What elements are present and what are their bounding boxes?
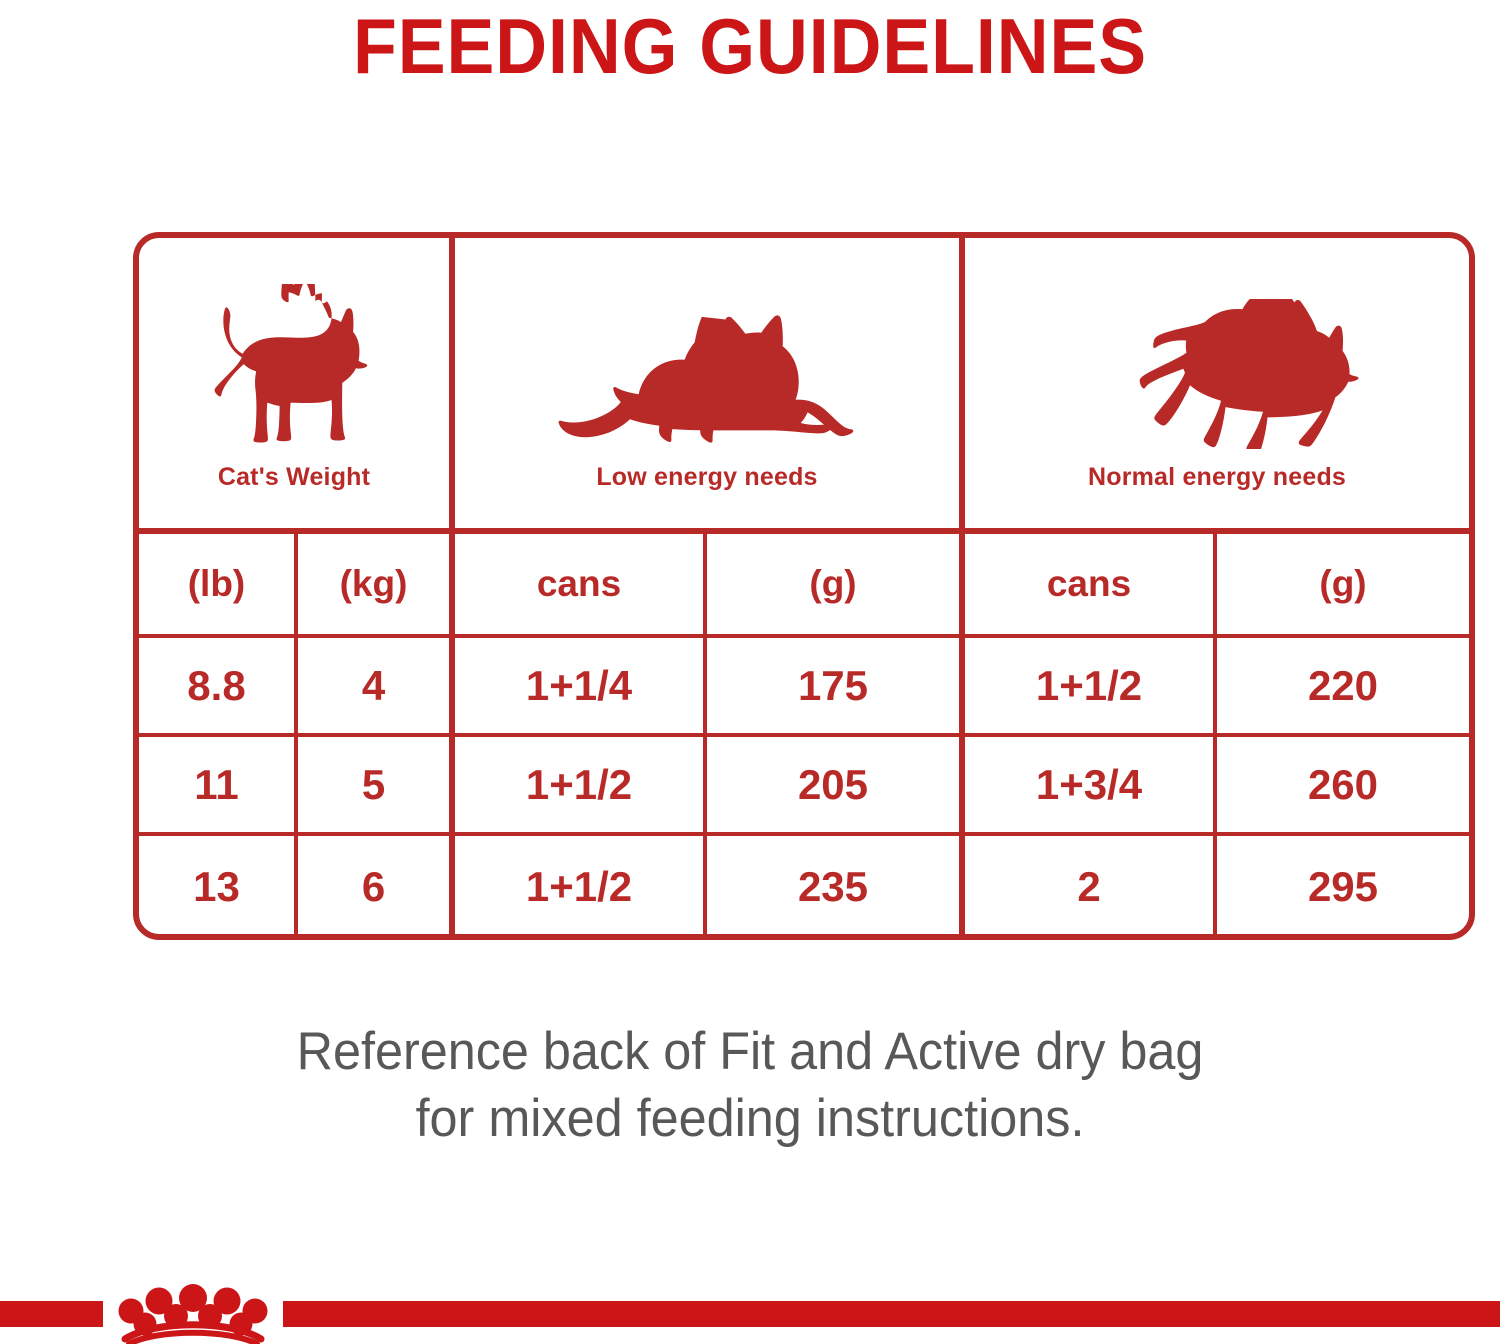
feeding-guidelines-table: Cat's Weight Low energy needs Normal ene…: [133, 232, 1475, 940]
brand-bar: [0, 1286, 1500, 1344]
group-header-label: Low energy needs: [596, 463, 817, 492]
footer-note-line-2: for mixed feeding instructions.: [38, 1085, 1463, 1152]
cell-low-grams: 205: [703, 737, 959, 832]
page-title: FEEDING GUIDELINES: [60, 0, 1440, 92]
brand-bar-left-rule: [0, 1301, 103, 1327]
cell-low-cans: 1+1/4: [449, 638, 703, 733]
column-header-low-cans: cans: [449, 534, 703, 634]
standing-cat-icon: [139, 274, 449, 449]
cell-low-cans: 1+1/2: [449, 737, 703, 832]
group-header-label: Cat's Weight: [218, 463, 370, 492]
table-row: 11 5 1+1/2 205 1+3/4 260: [139, 737, 1469, 836]
cell-low-grams: 175: [703, 638, 959, 733]
cell-kg: 6: [294, 836, 449, 937]
cell-lb: 8.8: [139, 638, 294, 733]
footer-note: Reference back of Fit and Active dry bag…: [38, 1018, 1463, 1152]
group-header-normal-energy: Normal energy needs: [959, 238, 1469, 528]
royal-canin-crown-logo-icon: [103, 1282, 283, 1344]
brand-bar-right-rule: [283, 1301, 1500, 1327]
walking-cat-icon: [965, 274, 1469, 449]
column-header-normal-cans: cans: [959, 534, 1213, 634]
cell-normal-cans: 2: [959, 836, 1213, 937]
table-row: 13 6 1+1/2 235 2 295: [139, 836, 1469, 937]
cell-low-grams: 235: [703, 836, 959, 937]
table-row: 8.8 4 1+1/4 175 1+1/2 220: [139, 638, 1469, 737]
group-header-label: Normal energy needs: [1088, 463, 1346, 492]
group-header-low-energy: Low energy needs: [449, 238, 959, 528]
cell-lb: 11: [139, 737, 294, 832]
cell-low-cans: 1+1/2: [449, 836, 703, 937]
table-icon-header-row: Cat's Weight Low energy needs Normal ene…: [139, 238, 1469, 534]
cell-normal-grams: 260: [1213, 737, 1469, 832]
cell-normal-grams: 220: [1213, 638, 1469, 733]
column-header-kg: (kg): [294, 534, 449, 634]
footer-note-line-1: Reference back of Fit and Active dry bag: [38, 1018, 1463, 1085]
column-header-normal-grams: (g): [1213, 534, 1469, 634]
cell-kg: 5: [294, 737, 449, 832]
cell-normal-grams: 295: [1213, 836, 1469, 937]
group-header-cats-weight: Cat's Weight: [139, 238, 449, 528]
column-header-low-grams: (g): [703, 534, 959, 634]
column-header-lb: (lb): [139, 534, 294, 634]
cell-kg: 4: [294, 638, 449, 733]
cell-normal-cans: 1+3/4: [959, 737, 1213, 832]
cell-lb: 13: [139, 836, 294, 937]
table-units-header-row: (lb) (kg) cans (g) cans (g): [139, 534, 1469, 638]
cell-normal-cans: 1+1/2: [959, 638, 1213, 733]
lying-cat-icon: [455, 274, 959, 449]
